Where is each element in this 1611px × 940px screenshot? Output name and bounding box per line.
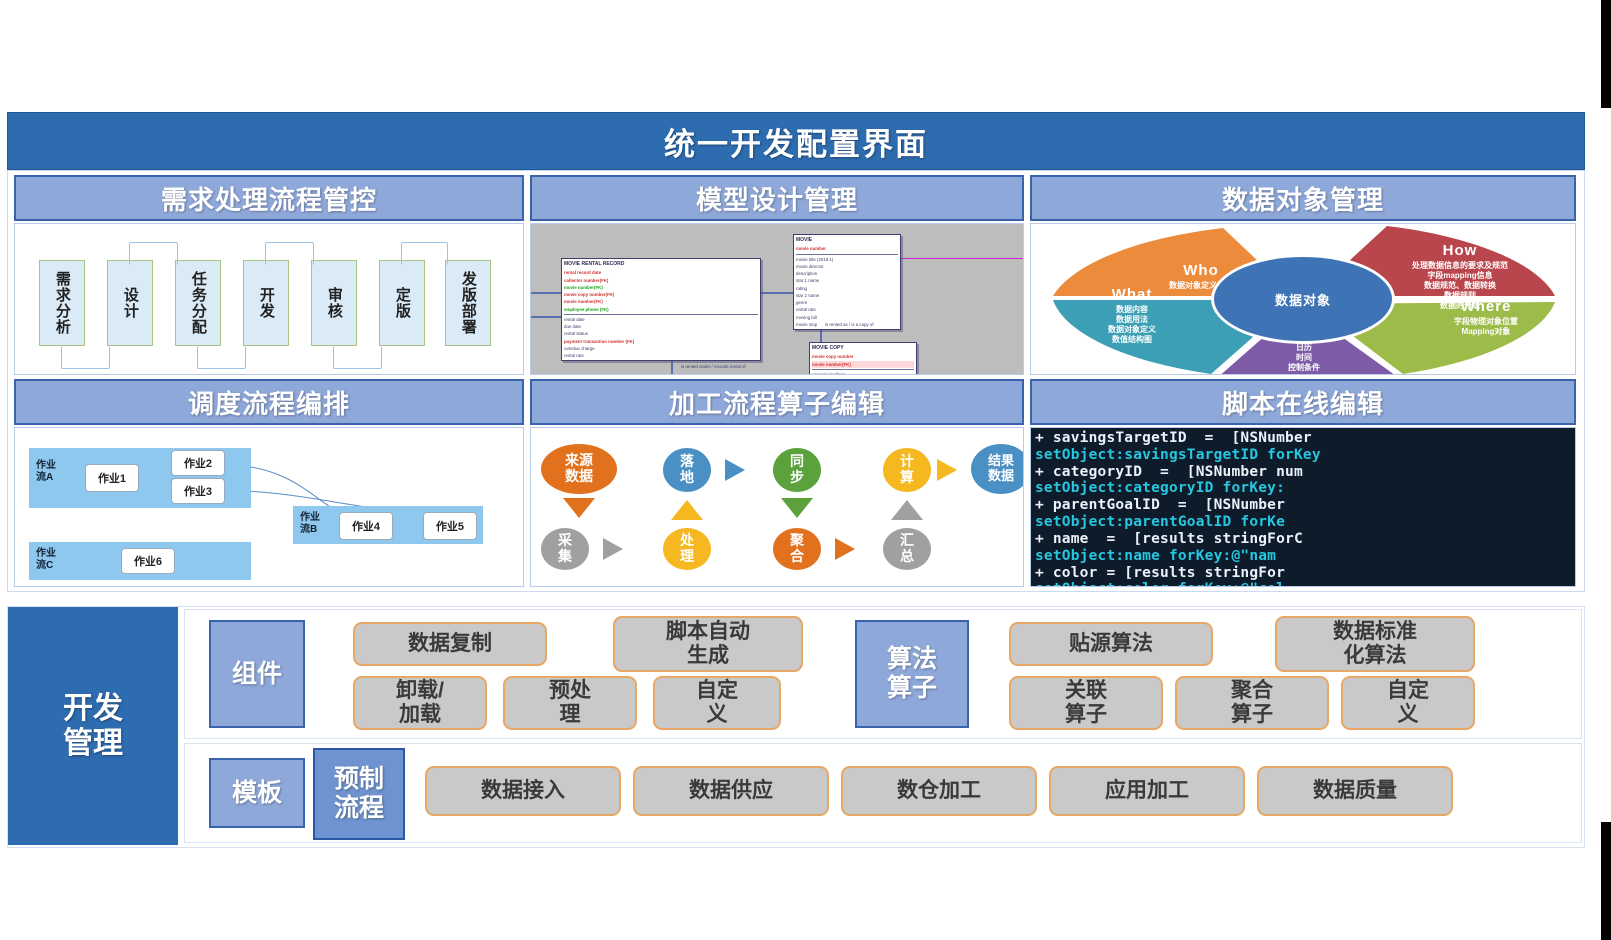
- arrow-sync-to-aggregate: [781, 498, 813, 518]
- category-algorithm-operators[interactable]: 算法 算子: [855, 620, 969, 728]
- job-4[interactable]: 作业4: [339, 512, 393, 540]
- arrow-compute-to-result: [937, 459, 957, 481]
- er-entity-movie-rental-record: MOVIE RENTAL RECORD rental record date c…: [561, 258, 761, 361]
- flow-node-7[interactable]: 发版部署: [445, 260, 491, 346]
- panel-title-script-edit: 脚本在线编辑: [1222, 384, 1384, 421]
- flow-link-5-6: [333, 346, 382, 369]
- job-flow-c-label: 作业流C: [36, 548, 56, 571]
- panel-model-design: 模型设计管理 MOVIE RENTAL RECORD rental rec: [530, 175, 1024, 375]
- er-entity-movie: MOVIE movie number movie title (2019.1)m…: [793, 234, 901, 330]
- panel-header-script-edit[interactable]: 脚本在线编辑: [1030, 379, 1576, 425]
- algorithm-source-aligned[interactable]: 贴源算法: [1009, 622, 1213, 666]
- panel-operator-edit: 加工流程算子编辑 来源 数据 落 地 同 步 计 算 结果 数据 采 集 处 理…: [530, 379, 1024, 587]
- operator-aggregate[interactable]: 聚 合: [773, 528, 821, 570]
- code-line-3: + categoryID = [NSNumber num: [1035, 464, 1303, 480]
- dev-row-components: 组件 数据复制 脚本自动 生成 卸载/ 加载 预处 理 自定 义 算法 算子 贴…: [184, 609, 1582, 739]
- job-5[interactable]: 作业5: [423, 512, 477, 540]
- pie-center-label: 数据对象: [1211, 254, 1395, 344]
- code-editor[interactable]: + savingsTargetID = [NSNumber setObject:…: [1031, 428, 1575, 586]
- panel-header-scheduling[interactable]: 调度流程编排: [14, 379, 524, 425]
- code-line-7: + name = [results stringForC: [1035, 531, 1303, 547]
- panels-container: 需求处理流程管控 需求分析 设计 任务分配 开发 审核 定版 发版部署: [7, 170, 1585, 592]
- component-script-autogen[interactable]: 脚本自动 生成: [613, 616, 803, 672]
- panel-title-model-design: 模型设计管理: [696, 180, 858, 217]
- algorithm-standardization[interactable]: 数据标准 化算法: [1275, 616, 1475, 672]
- preset-warehouse-processing[interactable]: 数仓加工: [841, 766, 1037, 816]
- flow-link-3-4: [197, 346, 246, 369]
- operator-summarize[interactable]: 汇 总: [883, 528, 931, 570]
- component-preprocess[interactable]: 预处 理: [503, 676, 637, 730]
- code-line-9: + color = [results stringFor: [1035, 565, 1285, 581]
- flow-node-1[interactable]: 需求分析: [39, 260, 85, 346]
- panel-header-operator-edit[interactable]: 加工流程算子编辑: [530, 379, 1024, 425]
- panel-body-script-edit: + savingsTargetID = [NSNumber setObject:…: [1030, 427, 1576, 587]
- category-components[interactable]: 组件: [209, 620, 305, 728]
- arrow-landing-to-sync: [725, 459, 745, 481]
- dev-management-panel: 开发 管理 组件 数据复制 脚本自动 生成 卸载/ 加载 预处 理 自定 义 算…: [7, 606, 1585, 848]
- code-line-8: setObject:name forKey:@"nam: [1035, 548, 1276, 564]
- operator-compute[interactable]: 计 算: [883, 448, 931, 492]
- panel-header-model-design[interactable]: 模型设计管理: [530, 175, 1024, 221]
- component-unload-load[interactable]: 卸载/ 加载: [353, 676, 487, 730]
- preset-data-ingestion[interactable]: 数据接入: [425, 766, 621, 816]
- job-1[interactable]: 作业1: [85, 464, 139, 492]
- arrow-summarize-to-compute: [891, 500, 923, 520]
- flow-node-3[interactable]: 任务分配: [175, 260, 221, 346]
- job-flow-c[interactable]: 作业流C 作业6: [29, 542, 251, 580]
- operator-source-data[interactable]: 来源 数据: [541, 444, 617, 494]
- black-bar-top-right: [1601, 0, 1611, 108]
- operator-process[interactable]: 处 理: [663, 528, 711, 570]
- panel-body-model-design: MOVIE RENTAL RECORD rental record date c…: [530, 223, 1024, 375]
- panel-data-object: 数据对象管理: [1030, 175, 1576, 375]
- category-template[interactable]: 模板: [209, 758, 305, 828]
- job-flow-a[interactable]: 作业流A 作业1 作业2 作业3: [29, 448, 251, 508]
- flow-node-4[interactable]: 开发: [243, 260, 289, 346]
- job-2[interactable]: 作业2: [171, 450, 225, 476]
- code-line-10: setObject:color forKey:@"col: [1035, 581, 1285, 586]
- flow-node-5[interactable]: 审核: [311, 260, 357, 346]
- panel-body-operator-edit: 来源 数据 落 地 同 步 计 算 结果 数据 采 集 处 理 聚 合 汇 总: [530, 427, 1024, 587]
- er-diagram[interactable]: MOVIE RENTAL RECORD rental record date c…: [531, 224, 1023, 374]
- panel-scheduling: 调度流程编排 作业流A 作业1: [14, 379, 524, 587]
- code-line-4: setObject:categoryID forKey:: [1035, 480, 1285, 496]
- requirement-flow-chain: 需求分析 设计 任务分配 开发 审核 定版 发版部署: [39, 244, 491, 362]
- job-3[interactable]: 作业3: [171, 478, 225, 504]
- operator-collect[interactable]: 采 集: [541, 528, 589, 570]
- panel-body-requirement: 需求分析 设计 任务分配 开发 审核 定版 发版部署: [14, 223, 524, 375]
- flow-link-4-5: [265, 242, 314, 265]
- job-6[interactable]: 作业6: [121, 548, 175, 574]
- flow-link-2-3: [129, 242, 178, 265]
- flow-link-6-7: [401, 242, 448, 265]
- algorithm-aggregate-operator[interactable]: 聚合 算子: [1175, 676, 1329, 730]
- flow-link-1-2: [61, 346, 110, 369]
- pie-slice-where: Where 字段物理对象位置 Mapping对象: [1411, 298, 1561, 337]
- preset-data-supply[interactable]: 数据供应: [633, 766, 829, 816]
- preset-data-quality[interactable]: 数据质量: [1257, 766, 1453, 816]
- panel-title-scheduling: 调度流程编排: [188, 384, 350, 421]
- panel-title-operator-edit: 加工流程算子编辑: [669, 384, 885, 421]
- arrow-source-to-collect: [563, 498, 595, 518]
- arrow-aggregate-to-summarize: [835, 538, 855, 560]
- flow-node-6[interactable]: 定版: [379, 260, 425, 346]
- operator-result-data[interactable]: 结果 数据: [971, 444, 1024, 494]
- job-flow-a-label: 作业流A: [36, 460, 56, 483]
- component-data-replication[interactable]: 数据复制: [353, 622, 547, 666]
- job-flow-canvas[interactable]: 作业流A 作业1 作业2 作业3 作业流B 作业4 作业5 作业流C: [15, 428, 523, 586]
- black-bar-bottom-right: [1601, 822, 1611, 940]
- dev-row-templates: 模板 预制 流程 数据接入 数据供应 数仓加工 应用加工 数据质量: [184, 743, 1582, 843]
- dev-management-title: 开发 管理: [8, 607, 178, 845]
- job-flow-b-label: 作业流B: [300, 512, 320, 535]
- pie-slice-what: What 数据内容 数据用法 数据对象定义 数值结构图: [1057, 286, 1207, 345]
- main-title-bar: 统一开发配置界面: [7, 112, 1585, 170]
- arrow-collect-to-process: [603, 538, 623, 560]
- panel-header-requirement[interactable]: 需求处理流程管控: [14, 175, 524, 221]
- panel-body-data-object: Who 数据对象定义信息 How 处理数据信息的要求及规范 字段mapping信…: [1030, 223, 1576, 375]
- job-flow-b[interactable]: 作业流B 作业4 作业5: [293, 506, 483, 544]
- preset-application-processing[interactable]: 应用加工: [1049, 766, 1245, 816]
- category-preset-flow[interactable]: 预制 流程: [313, 748, 405, 840]
- code-line-1: + savingsTargetID = [NSNumber: [1035, 430, 1312, 446]
- algorithm-join-operator[interactable]: 关联 算子: [1009, 676, 1163, 730]
- panel-body-scheduling: 作业流A 作业1 作业2 作业3 作业流B 作业4 作业5 作业流C: [14, 427, 524, 587]
- operator-sync[interactable]: 同 步: [773, 448, 821, 492]
- diagram-frame: 统一开发配置界面 需求处理流程管控 需求分析 设计 任务分配 开发 审核 定版 …: [2, 112, 1595, 827]
- flow-node-2[interactable]: 设计: [107, 260, 153, 346]
- component-custom[interactable]: 自定 义: [653, 676, 781, 730]
- panel-header-data-object[interactable]: 数据对象管理: [1030, 175, 1576, 221]
- page-title: 统一开发配置界面: [664, 119, 928, 164]
- algorithm-custom[interactable]: 自定 义: [1341, 676, 1475, 730]
- data-object-pie-chart[interactable]: Who 数据对象定义信息 How 处理数据信息的要求及规范 字段mapping信…: [1031, 224, 1575, 374]
- code-line-5: + parentGoalID = [NSNumber: [1035, 497, 1285, 513]
- panel-requirement: 需求处理流程管控 需求分析 设计 任务分配 开发 审核 定版 发版部署: [14, 175, 524, 375]
- operator-canvas[interactable]: 来源 数据 落 地 同 步 计 算 结果 数据 采 集 处 理 聚 合 汇 总: [531, 428, 1023, 586]
- code-line-2: setObject:savingsTargetID forKey: [1035, 447, 1321, 463]
- panel-title-requirement: 需求处理流程管控: [161, 180, 377, 217]
- code-line-6: setObject:parentGoalID forKe: [1035, 514, 1285, 530]
- panel-script-edit: 脚本在线编辑 + savingsTargetID = [NSNumber set…: [1030, 379, 1576, 587]
- er-entity-movie-copy: MOVIE COPY movie copy number movie numbe…: [809, 342, 917, 375]
- panel-title-data-object: 数据对象管理: [1222, 180, 1384, 217]
- operator-landing[interactable]: 落 地: [663, 448, 711, 492]
- arrow-process-to-landing: [671, 500, 703, 520]
